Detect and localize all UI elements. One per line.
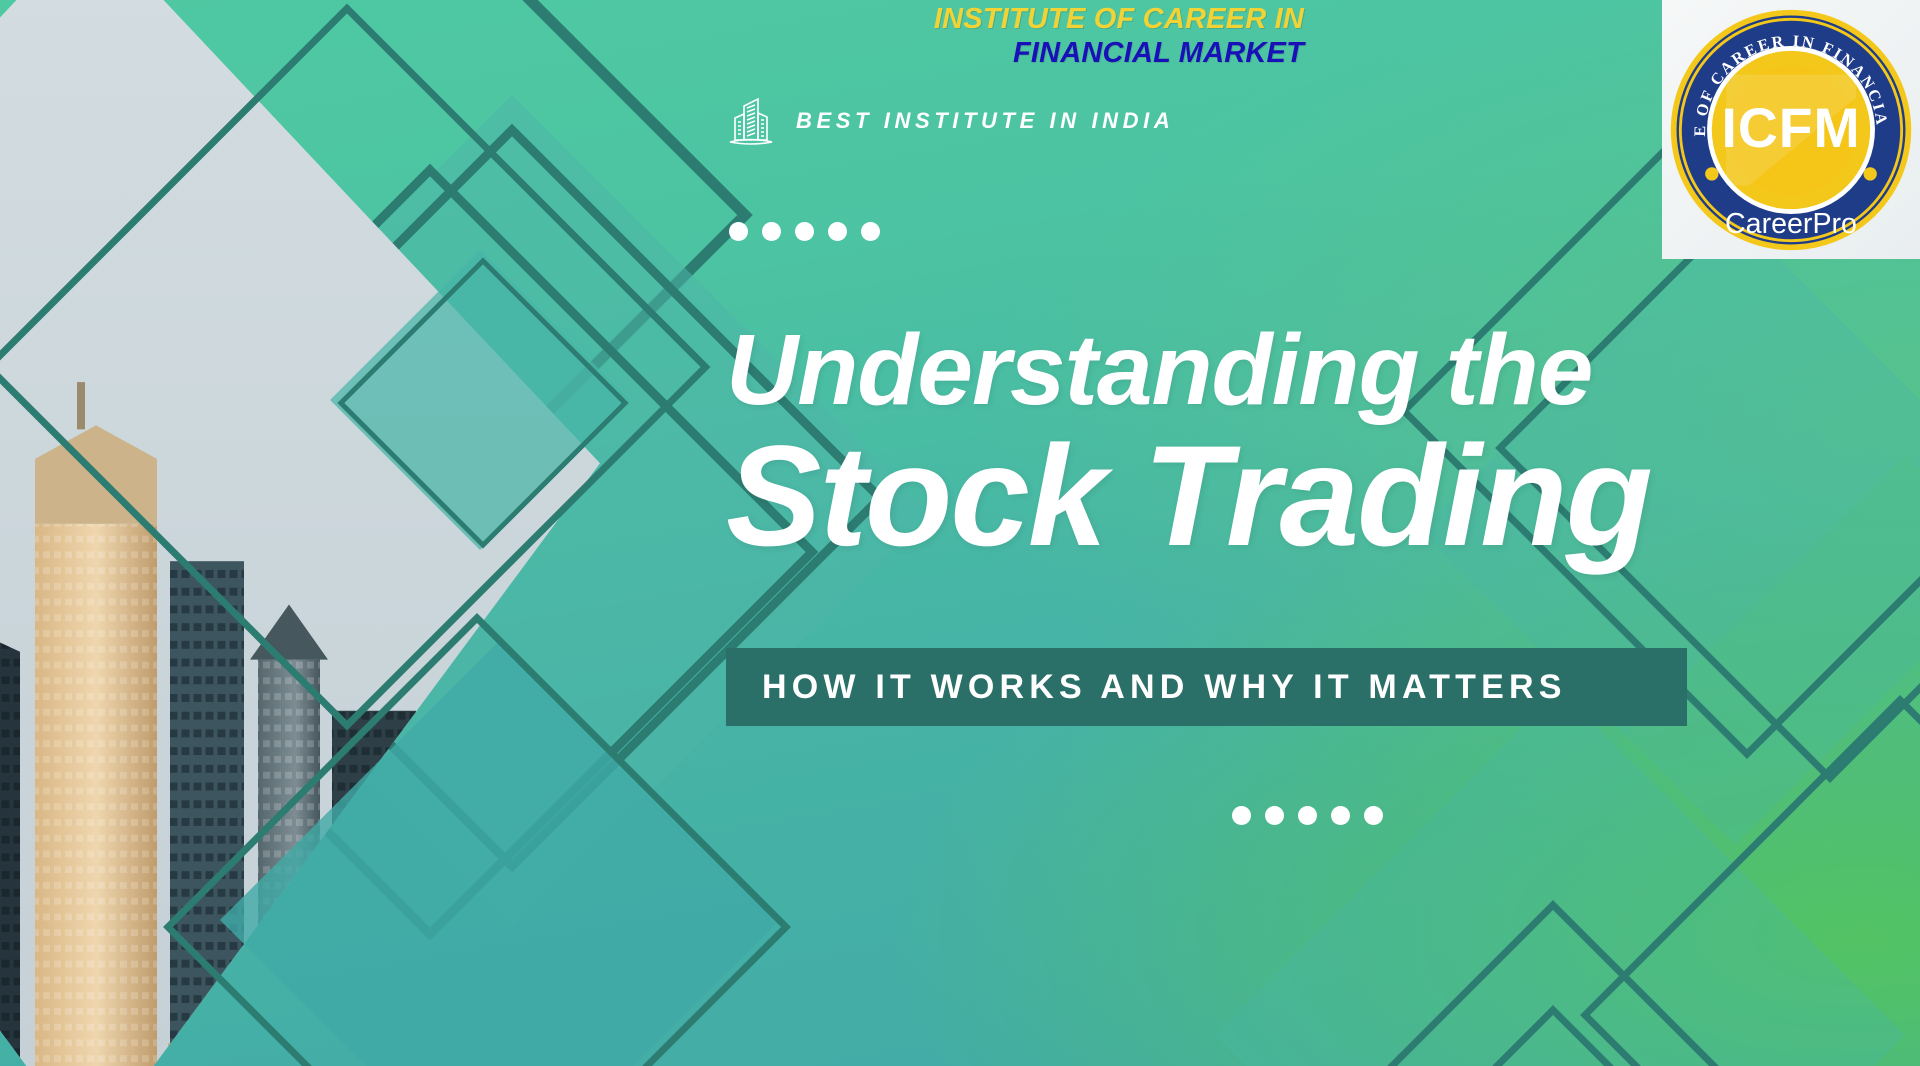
slide-canvas: INSTITUTE OF CAREER IN FINANCIAL MARKET … — [0, 0, 1920, 1066]
svg-text:CareerPro: CareerPro — [1725, 208, 1857, 240]
page-title: Understanding the Stock Trading — [726, 320, 1651, 570]
dot — [1298, 806, 1317, 825]
dot — [729, 222, 748, 241]
title-line-1: Understanding the — [726, 320, 1651, 420]
dot — [762, 222, 781, 241]
dots-top — [729, 222, 880, 241]
svg-text:ICFM: ICFM — [1722, 97, 1861, 159]
subtitle-text: HOW IT WORKS AND WHY IT MATTERS — [726, 668, 1567, 707]
kicker-row: BEST INSTITUTE IN INDIA — [728, 96, 1174, 146]
dot — [828, 222, 847, 241]
title-line-2: Stock Trading — [726, 424, 1651, 570]
city-buildings-icon — [728, 96, 774, 146]
dot — [1265, 806, 1284, 825]
dot — [861, 222, 880, 241]
brand-title-line1: INSTITUTE OF CAREER IN — [934, 4, 1304, 35]
kicker-text: BEST INSTITUTE IN INDIA — [796, 108, 1174, 134]
dot — [1232, 806, 1251, 825]
dot — [795, 222, 814, 241]
dots-bottom — [1232, 806, 1383, 825]
brand-title: INSTITUTE OF CAREER IN FINANCIAL MARKET — [934, 4, 1304, 68]
dot — [1364, 806, 1383, 825]
icfm-careerpro-seal-icon: INSTITUTE OF CAREER IN FINANCIAL MARKET … — [1667, 6, 1915, 254]
dot — [1331, 806, 1350, 825]
icfm-logo[interactable]: INSTITUTE OF CAREER IN FINANCIAL MARKET … — [1662, 0, 1920, 259]
brand-title-line2: FINANCIAL MARKET — [934, 38, 1304, 69]
subtitle-band: HOW IT WORKS AND WHY IT MATTERS — [726, 648, 1687, 726]
